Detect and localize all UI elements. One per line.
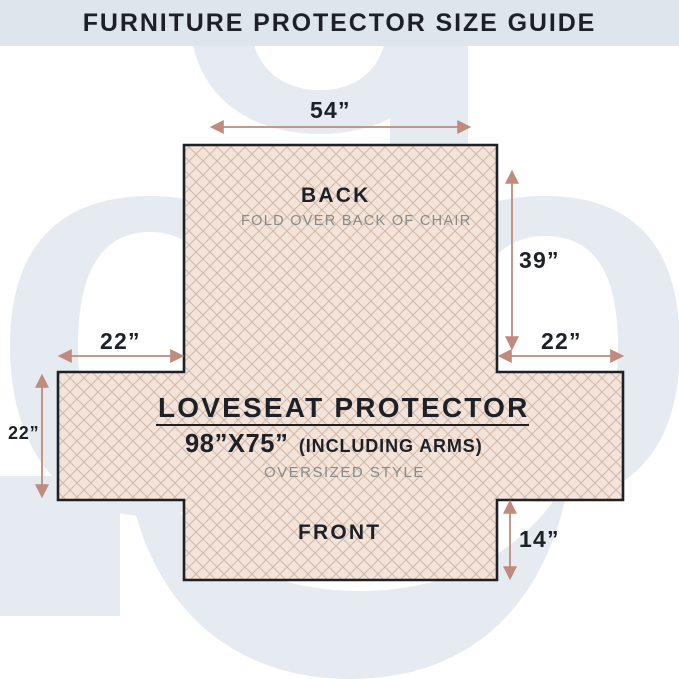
dimension-label-top-width: 54” [310,97,351,124]
product-size-row: 98”X75” (INCLUDING ARMS) [185,430,483,459]
product-style: OVERSIZED STYLE [264,464,425,481]
dimension-label-left-arm-height: 22” [8,423,39,444]
page-title: FURNITURE PROTECTOR SIZE GUIDE [0,0,679,46]
protector-shape [58,145,623,580]
product-title-underline [156,424,529,426]
dimension-label-right-arm-width: 22” [541,328,582,355]
product-size: 98”X75” [185,430,288,459]
dimension-label-left-arm-width: 22” [100,328,141,355]
product-size-note: (INCLUDING ARMS) [299,436,483,457]
back-panel-sublabel: FOLD OVER BACK OF CHAIR [241,213,472,229]
product-title: LOVESEAT PROTECTOR [158,392,530,424]
size-guide-page: FURNITURE PROTECTOR SIZE GUIDE 54” BACK … [0,0,679,679]
dimension-label-back-height: 39” [519,247,560,274]
front-panel-label: FRONT [298,521,381,545]
dimension-label-front-skirt-height: 14” [519,526,560,553]
back-panel-label: BACK [301,184,370,208]
